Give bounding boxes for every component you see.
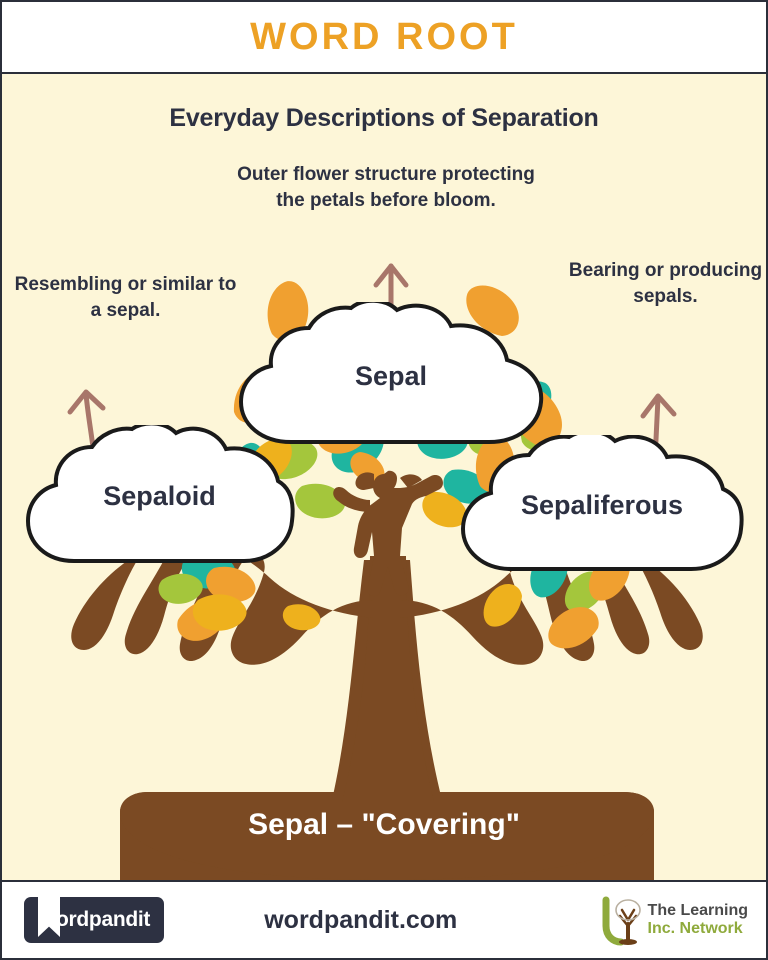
- root-banner-text: Sepal – "Covering": [2, 808, 766, 842]
- tree-u-icon: [598, 894, 644, 946]
- cloud-label-sepaliferous: Sepaliferous: [521, 490, 683, 521]
- annotation-right: Bearing or producing sepals.: [558, 258, 768, 309]
- partner-line-1: The Learning: [648, 902, 748, 919]
- infographic-page: WORD ROOT Everyday Descriptions of Separ…: [0, 0, 768, 960]
- annotation-top: Outer flower structure protecting the pe…: [236, 162, 536, 213]
- footer-url[interactable]: wordpandit.com: [124, 906, 598, 935]
- page-title: WORD ROOT: [250, 16, 518, 59]
- annotation-left: Resembling or similar to a sepal.: [8, 272, 243, 323]
- learning-network-text: The Learning Inc. Network: [648, 902, 748, 938]
- subtitle: Everyday Descriptions of Separation: [2, 104, 766, 133]
- cloud-sepaliferous: Sepaliferous: [457, 435, 747, 575]
- bookmark-icon: [38, 897, 60, 937]
- header-band: WORD ROOT: [2, 0, 766, 74]
- cloud-label-sepal: Sepal: [355, 361, 427, 392]
- cloud-label-sepaloid: Sepaloid: [103, 481, 216, 512]
- wordpandit-logo-text: ordpandit: [56, 908, 150, 932]
- footer-band: ordpandit wordpandit.com The Learning In…: [2, 880, 766, 960]
- wordpandit-logo[interactable]: ordpandit: [24, 897, 164, 943]
- partner-line-2: Inc. Network: [648, 920, 743, 937]
- learning-network-logo[interactable]: The Learning Inc. Network: [598, 894, 748, 946]
- cloud-sepaloid: Sepaloid: [22, 425, 297, 567]
- tree-trunk: [332, 556, 442, 802]
